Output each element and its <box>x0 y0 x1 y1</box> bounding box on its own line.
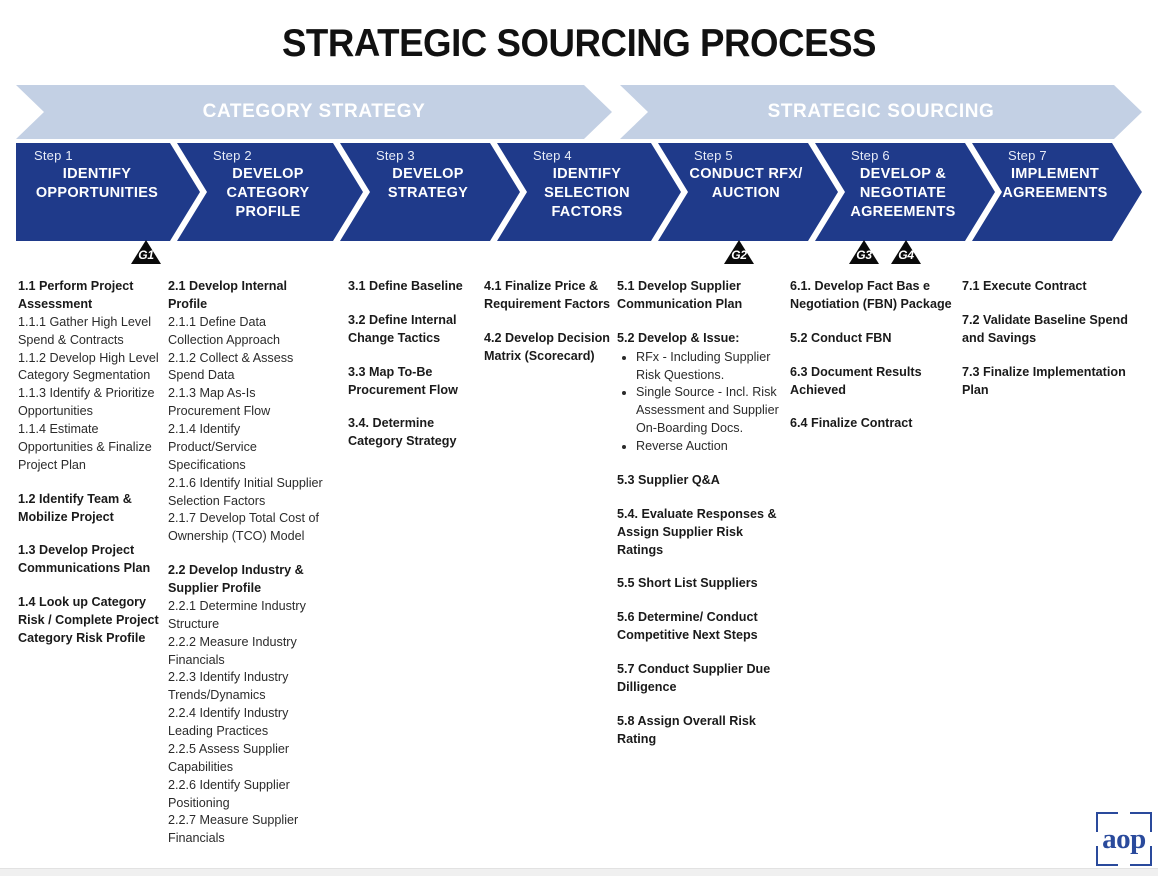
detail-column-6: 6.1. Develop Fact Bas e Negotiation (FBN… <box>790 278 958 433</box>
gate-marker-g4: G4 <box>891 240 921 264</box>
task-heading: 7.2 Validate Baseline Spend and Savings <box>962 312 1134 348</box>
task-group: 4.2 Develop Decision Matrix (Scorecard) <box>484 330 614 366</box>
gate-marker-g3: G3 <box>849 240 879 264</box>
task-group: 5.4. Evaluate Responses & Assign Supplie… <box>617 506 789 560</box>
step-chevron-7[interactable]: Step 7 IMPLEMENT AGREEMENTS <box>972 143 1142 241</box>
bottom-strip <box>0 868 1158 876</box>
task-group: 5.8 Assign Overall Risk Rating <box>617 713 789 749</box>
gate-label: G4 <box>891 248 921 262</box>
task-bullet: RFx - Including Supplier Risk Questions. <box>636 349 789 385</box>
task-bullet: Single Source - Incl. Risk Assessment an… <box>636 384 789 438</box>
task-group: 6.3 Document Results Achieved <box>790 364 958 400</box>
task-heading: 6.3 Document Results Achieved <box>790 364 958 400</box>
step-chevron-2[interactable]: Step 2 DEVELOP CATEGORY PROFILE <box>177 143 363 241</box>
gate-marker-g2: G2 <box>724 240 754 264</box>
task-heading: 3.4. Determine Category Strategy <box>348 415 476 451</box>
task-group: 1.4 Look up Category Risk / Complete Pro… <box>18 594 168 648</box>
step-title: IDENTIFY OPPORTUNITIES <box>16 165 178 203</box>
task-heading: 5.8 Assign Overall Risk Rating <box>617 713 789 749</box>
detail-column-2: 2.1 Develop Internal Profile 2.1.1 Defin… <box>168 278 324 848</box>
task-subitem: 2.1.4 Identify Product/Service Specifica… <box>168 421 324 475</box>
task-subitem: 2.1.7 Develop Total Cost of Ownership (T… <box>168 510 324 546</box>
task-heading: 5.1 Develop Supplier Communication Plan <box>617 278 789 314</box>
task-group: 3.3 Map To-Be Procurement Flow <box>348 364 476 400</box>
step-chevron-6[interactable]: Step 6 DEVELOP & NEGOTIATE AGREEMENTS <box>815 143 995 241</box>
task-group: 6.1. Develop Fact Bas e Negotiation (FBN… <box>790 278 958 314</box>
task-heading: 7.1 Execute Contract <box>962 278 1134 296</box>
task-group: 7.1 Execute Contract <box>962 278 1134 296</box>
task-heading: 4.2 Develop Decision Matrix (Scorecard) <box>484 330 614 366</box>
task-subitem: 1.1.2 Develop High Level Category Segmen… <box>18 350 168 386</box>
task-group: 3.2 Define Internal Change Tactics <box>348 312 476 348</box>
task-subitem: 2.2.1 Determine Industry Structure <box>168 598 324 634</box>
task-subitem: 2.2.3 Identify Industry Trends/Dynamics <box>168 669 324 705</box>
task-subitem: 2.2.2 Measure Industry Financials <box>168 634 324 670</box>
task-group: 5.5 Short List Suppliers <box>617 575 789 593</box>
task-subitem: 1.1.1 Gather High Level Spend & Contract… <box>18 314 168 350</box>
task-heading: 1.2 Identify Team & Mobilize Project <box>18 491 168 527</box>
task-heading: 5.5 Short List Suppliers <box>617 575 789 593</box>
task-subitem: 2.2.7 Measure Supplier Financials <box>168 812 324 848</box>
task-subitem: 1.1.4 Estimate Opportunities & Finalize … <box>18 421 168 475</box>
task-heading: 1.4 Look up Category Risk / Complete Pro… <box>18 594 168 648</box>
task-heading: 3.1 Define Baseline <box>348 278 476 296</box>
aop-logo: aop <box>1096 812 1152 866</box>
task-heading: 2.2 Develop Industry & Supplier Profile <box>168 562 324 598</box>
phase-banner: CATEGORY STRATEGY STRATEGIC SOURCING <box>16 85 1142 139</box>
task-subitem: 2.2.4 Identify Industry Leading Practice… <box>168 705 324 741</box>
step-number: Step 6 <box>851 148 890 163</box>
task-subitem: 2.1.1 Define Data Collection Approach <box>168 314 324 350</box>
task-group: 4.1 Finalize Price & Requirement Factors <box>484 278 614 314</box>
task-subitem: 1.1.3 Identify & Prioritize Opportunitie… <box>18 385 168 421</box>
task-group: 1.1 Perform Project Assessment 1.1.1 Gat… <box>18 278 168 475</box>
step-number: Step 4 <box>533 148 572 163</box>
step-title: DEVELOP CATEGORY PROFILE <box>195 165 341 222</box>
task-group: 5.1 Develop Supplier Communication Plan <box>617 278 789 314</box>
step-number: Step 3 <box>376 148 415 163</box>
task-group: 3.1 Define Baseline <box>348 278 476 296</box>
task-heading: 5.2 Develop & Issue: <box>617 330 789 348</box>
step-title: IMPLEMENT AGREEMENTS <box>990 165 1120 203</box>
step-chevron-1[interactable]: Step 1 IDENTIFY OPPORTUNITIES <box>16 143 200 241</box>
task-heading: 2.1 Develop Internal Profile <box>168 278 324 314</box>
task-heading: 5.3 Supplier Q&A <box>617 472 789 490</box>
task-group: 2.1 Develop Internal Profile 2.1.1 Defin… <box>168 278 324 546</box>
gate-label: G1 <box>131 248 161 262</box>
step-detail-columns: 1.1 Perform Project Assessment 1.1.1 Gat… <box>0 278 1158 838</box>
task-heading: 7.3 Finalize Implementation Plan <box>962 364 1134 400</box>
task-heading: 1.3 Develop Project Communications Plan <box>18 542 168 578</box>
task-heading: 5.4. Evaluate Responses & Assign Supplie… <box>617 506 789 560</box>
task-group: 1.3 Develop Project Communications Plan <box>18 542 168 578</box>
detail-column-7: 7.1 Execute Contract 7.2 Validate Baseli… <box>962 278 1134 399</box>
step-title: CONDUCT RFX/ AUCTION <box>676 165 816 203</box>
phase-banner-strategic-sourcing: STRATEGIC SOURCING <box>620 85 1142 139</box>
task-bullet-list: RFx - Including Supplier Risk Questions.… <box>617 349 789 456</box>
task-heading: 3.3 Map To-Be Procurement Flow <box>348 364 476 400</box>
step-number: Step 5 <box>694 148 733 163</box>
task-group: 7.2 Validate Baseline Spend and Savings <box>962 312 1134 348</box>
task-subitem: 2.1.2 Collect & Assess Spend Data <box>168 350 324 386</box>
gate-marker-g1: G1 <box>131 240 161 264</box>
logo-text: aop <box>1096 823 1152 856</box>
task-heading: 6.4 Finalize Contract <box>790 415 958 433</box>
step-chevron-5[interactable]: Step 5 CONDUCT RFX/ AUCTION <box>658 143 838 241</box>
gate-label: G2 <box>724 248 754 262</box>
detail-column-4: 4.1 Finalize Price & Requirement Factors… <box>484 278 614 366</box>
step-chevron-3[interactable]: Step 3 DEVELOP STRATEGY <box>340 143 520 241</box>
task-group: 5.3 Supplier Q&A <box>617 472 789 490</box>
step-number: Step 2 <box>213 148 252 163</box>
task-group: 5.7 Conduct Supplier Due Dilligence <box>617 661 789 697</box>
task-heading: 5.6 Determine/ Conduct Competitive Next … <box>617 609 789 645</box>
detail-column-3: 3.1 Define Baseline 3.2 Define Internal … <box>348 278 476 451</box>
step-chevron-4[interactable]: Step 4 IDENTIFY SELECTION FACTORS <box>497 143 681 241</box>
phase-label: CATEGORY STRATEGY <box>203 101 426 123</box>
task-group: 5.6 Determine/ Conduct Competitive Next … <box>617 609 789 645</box>
process-steps: Step 1 IDENTIFY OPPORTUNITIES Step 2 DEV… <box>16 143 1142 241</box>
task-heading: 5.7 Conduct Supplier Due Dilligence <box>617 661 789 697</box>
gate-label: G3 <box>849 248 879 262</box>
page-title: STRATEGIC SOURCING PROCESS <box>35 22 1124 66</box>
task-group: 5.2 Develop & Issue: RFx - Including Sup… <box>617 330 789 456</box>
phase-banner-category-strategy: CATEGORY STRATEGY <box>16 85 612 139</box>
task-subitem: 2.2.5 Assess Supplier Capabilities <box>168 741 324 777</box>
task-group: 6.4 Finalize Contract <box>790 415 958 433</box>
task-subitem: 2.1.3 Map As-Is Procurement Flow <box>168 385 324 421</box>
step-title: DEVELOP & NEGOTIATE AGREEMENTS <box>833 165 973 222</box>
step-title: DEVELOP STRATEGY <box>358 165 498 203</box>
task-heading: 3.2 Define Internal Change Tactics <box>348 312 476 348</box>
task-group: 2.2 Develop Industry & Supplier Profile … <box>168 562 324 848</box>
task-group: 5.2 Conduct FBN <box>790 330 958 348</box>
task-group: 7.3 Finalize Implementation Plan <box>962 364 1134 400</box>
task-bullet: Reverse Auction <box>636 438 789 456</box>
detail-column-1: 1.1 Perform Project Assessment 1.1.1 Gat… <box>18 278 168 648</box>
task-heading: 4.1 Finalize Price & Requirement Factors <box>484 278 614 314</box>
step-number: Step 1 <box>34 148 73 163</box>
task-heading: 1.1 Perform Project Assessment <box>18 278 168 314</box>
task-group: 3.4. Determine Category Strategy <box>348 415 476 451</box>
task-group: 1.2 Identify Team & Mobilize Project <box>18 491 168 527</box>
task-heading: 6.1. Develop Fact Bas e Negotiation (FBN… <box>790 278 958 314</box>
detail-column-5: 5.1 Develop Supplier Communication Plan … <box>617 278 789 749</box>
task-subitem: 2.1.6 Identify Initial Supplier Selectio… <box>168 475 324 511</box>
task-heading: 5.2 Conduct FBN <box>790 330 958 348</box>
step-title: IDENTIFY SELECTION FACTORS <box>515 165 659 222</box>
phase-label: STRATEGIC SOURCING <box>768 101 995 123</box>
step-number: Step 7 <box>1008 148 1047 163</box>
task-subitem: 2.2.6 Identify Supplier Positioning <box>168 777 324 813</box>
